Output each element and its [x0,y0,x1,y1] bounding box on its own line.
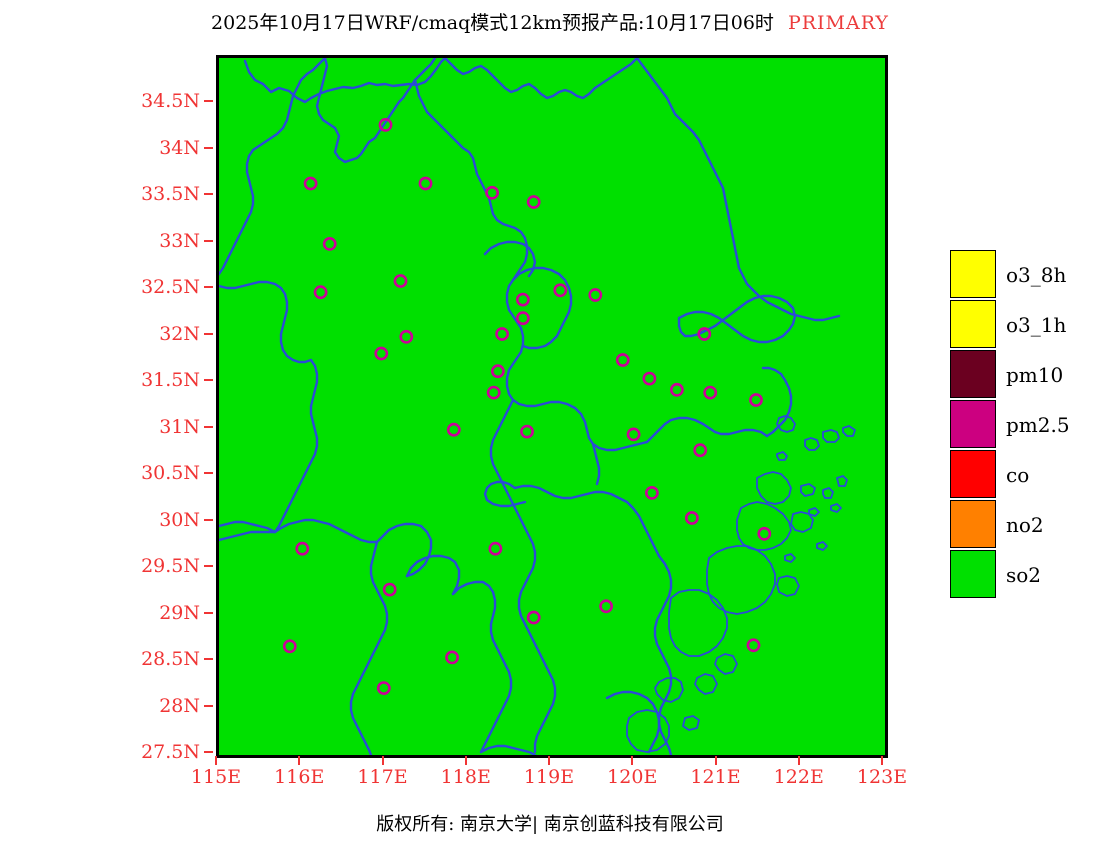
x-axis-tick [881,756,883,765]
map-vector-layer [219,58,885,755]
legend-item-label: pm2.5 [1006,413,1070,437]
x-axis-tick [715,756,717,765]
y-axis-tick [204,240,213,242]
y-axis-tick-label: 32N [159,323,200,345]
x-axis-tick-label: 116E [274,766,324,788]
y-axis-tick-label: 27.5N [141,741,200,763]
legend-color-swatch [950,550,996,598]
page-title-tag: PRIMARY [788,12,889,34]
y-axis-tick [204,705,213,707]
legend-item-pm10[interactable]: pm10 [950,350,998,400]
y-axis-tick [204,658,213,660]
x-axis-tick-label: 117E [357,766,407,788]
legend-color-swatch [950,500,996,548]
y-axis-tick [204,100,213,102]
y-axis-tick-label: 33N [159,230,200,252]
y-axis-tick [204,472,213,474]
x-axis-tick [465,756,467,765]
y-axis-tick-label: 30.5N [141,462,200,484]
x-axis-tick [298,756,300,765]
x-axis-tick [215,756,217,765]
legend-color-swatch [950,300,996,348]
x-axis-tick-label: 123E [857,766,907,788]
legend-color-swatch [950,450,996,498]
legend-item-co[interactable]: co [950,450,998,500]
page-title: 2025年10月17日WRF/cmaq模式12km预报产品:10月17日06时P… [0,12,1100,34]
forecast-map[interactable] [216,55,888,758]
y-axis-tick-label: 32.5N [141,276,200,298]
y-axis-tick-label: 30N [159,509,200,531]
legend-color-swatch [950,250,996,298]
y-axis-tick [204,426,213,428]
x-axis-tick [631,756,633,765]
y-axis-tick-label: 31N [159,416,200,438]
y-axis-tick-label: 34N [159,137,200,159]
legend-item-label: co [1006,463,1029,487]
legend-color-swatch [950,400,996,448]
y-axis-tick-label: 31.5N [141,369,200,391]
y-axis-tick-label: 28N [159,695,200,717]
legend-item-o3-1h[interactable]: o3_1h [950,300,998,350]
map-background [219,58,885,755]
legend-item-label: pm10 [1006,363,1063,387]
x-axis-tick-label: 115E [191,766,241,788]
legend-item-no2[interactable]: no2 [950,500,998,550]
legend-item-label: o3_1h [1006,313,1066,337]
y-axis-tick-label: 34.5N [141,90,200,112]
x-axis-tick-label: 120E [607,766,657,788]
y-axis-tick-label: 29.5N [141,555,200,577]
legend-item-o3-8h[interactable]: o3_8h [950,250,998,300]
y-axis-tick [204,519,213,521]
x-axis-tick-label: 119E [524,766,574,788]
y-axis-tick-label: 28.5N [141,648,200,670]
copyright-footer: 版权所有: 南京大学| 南京创蓝科技有限公司 [0,810,1100,836]
y-axis-tick [204,147,213,149]
legend-item-so2[interactable]: so2 [950,550,998,600]
y-axis-tick [204,565,213,567]
y-axis-tick [204,333,213,335]
legend-item-label: so2 [1006,563,1041,587]
x-axis-tick-label: 121E [690,766,740,788]
legend-item-label: o3_8h [1006,263,1066,287]
y-axis-tick [204,193,213,195]
y-axis-tick [204,751,213,753]
y-axis-tick [204,612,213,614]
x-axis-tick-label: 122E [774,766,824,788]
x-axis-tick [548,756,550,765]
legend-item-label: no2 [1006,513,1044,537]
legend-color-swatch [950,350,996,398]
pollutant-legend[interactable]: o3_8ho3_1hpm10pm2.5cono2so2 [950,250,998,600]
x-axis-tick [798,756,800,765]
legend-item-pm2-5[interactable]: pm2.5 [950,400,998,450]
page-title-main: 2025年10月17日WRF/cmaq模式12km预报产品:10月17日06时 [211,12,774,34]
y-axis-tick-label: 33.5N [141,183,200,205]
x-axis-tick [382,756,384,765]
y-axis-tick-label: 29N [159,602,200,624]
x-axis-tick-label: 118E [441,766,491,788]
y-axis-tick [204,379,213,381]
y-axis-tick [204,286,213,288]
